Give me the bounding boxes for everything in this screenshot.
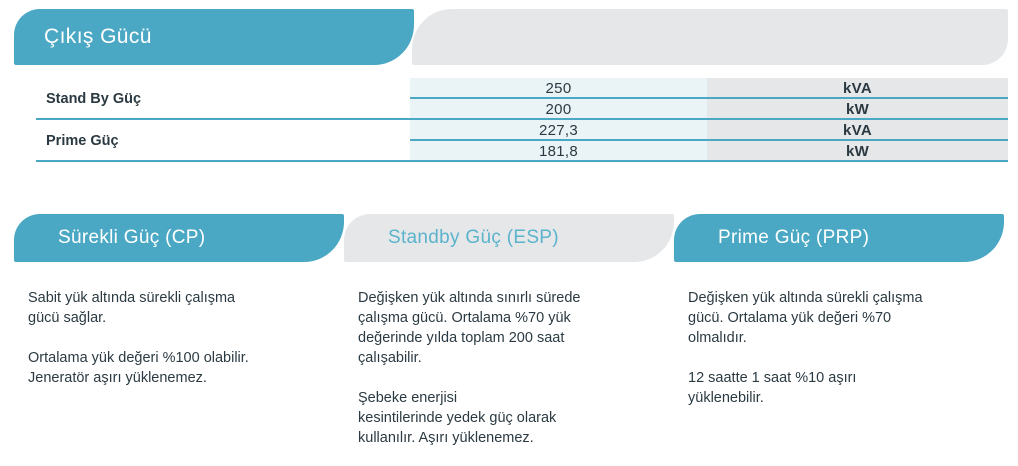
- card-body-prp: Değişken yük altında sürekli çalışma güc…: [674, 262, 1004, 408]
- card-paragraph: Değişken yük altında sürekli çalışma güc…: [688, 288, 992, 348]
- card-header-cp: Sürekli Güç (CP): [14, 214, 344, 262]
- card-standby-guc-esp: Standby Güç (ESP) Değişken yük altında s…: [344, 214, 674, 448]
- card-paragraph: Değişken yük altında sınırlı sürede çalı…: [358, 288, 662, 368]
- row-unit: kW: [707, 99, 1008, 120]
- table-title: Çıkış Gücü: [14, 25, 152, 49]
- card-header-prp: Prime Güç (PRP): [674, 214, 1004, 262]
- card-paragraph: Ortalama yük değeri %100 olabilir. Jener…: [28, 348, 332, 388]
- table-title-pill: Çıkış Gücü: [14, 9, 414, 65]
- card-body-esp: Değişken yük altında sınırlı sürede çalı…: [344, 262, 674, 448]
- card-surekli-guc-cp: Sürekli Güç (CP) Sabit yük altında sürek…: [14, 214, 344, 388]
- card-paragraph: 12 saatte 1 saat %10 aşırı yüklenebilir.: [688, 368, 992, 408]
- table-row: Stand By Güç 250 kVA: [0, 78, 1018, 99]
- table-header-row: Çıkış Gücü: [0, 9, 1018, 65]
- card-title-cp: Sürekli Güç (CP): [14, 227, 205, 249]
- table-row: 200 kW: [0, 99, 1018, 120]
- row-unit: kVA: [707, 120, 1008, 141]
- table-row: Prime Güç 227,3 kVA: [0, 120, 1018, 141]
- table-row: 181,8 kW: [0, 141, 1018, 162]
- card-prime-guc-prp: Prime Güç (PRP) Değişken yük altında sür…: [674, 214, 1004, 408]
- row-value: 200: [410, 99, 707, 120]
- power-definition-cards: Sürekli Güç (CP) Sabit yük altında sürek…: [0, 214, 1018, 466]
- row-unit: kW: [707, 141, 1008, 162]
- table-body: Stand By Güç 250 kVA 200 kW Prime Güç 22…: [0, 78, 1018, 162]
- row-value: 227,3: [410, 120, 707, 141]
- card-paragraph: Şebeke enerjisi kesintilerinde yedek güç…: [358, 388, 662, 448]
- card-title-prp: Prime Güç (PRP): [674, 227, 869, 249]
- table-header-gray-panel: [412, 9, 1008, 65]
- row-value: 250: [410, 78, 707, 99]
- card-header-esp: Standby Güç (ESP): [344, 214, 674, 262]
- row-unit: kVA: [707, 78, 1008, 99]
- card-paragraph: Sabit yük altında sürekli çalışma gücü s…: [28, 288, 332, 328]
- output-power-table: Çıkış Gücü Stand By Güç 250 kVA 200 kW P…: [0, 0, 1018, 178]
- card-body-cp: Sabit yük altında sürekli çalışma gücü s…: [14, 262, 344, 388]
- card-title-esp: Standby Güç (ESP): [344, 227, 559, 249]
- group-divider: [36, 160, 1008, 162]
- row-value: 181,8: [410, 141, 707, 162]
